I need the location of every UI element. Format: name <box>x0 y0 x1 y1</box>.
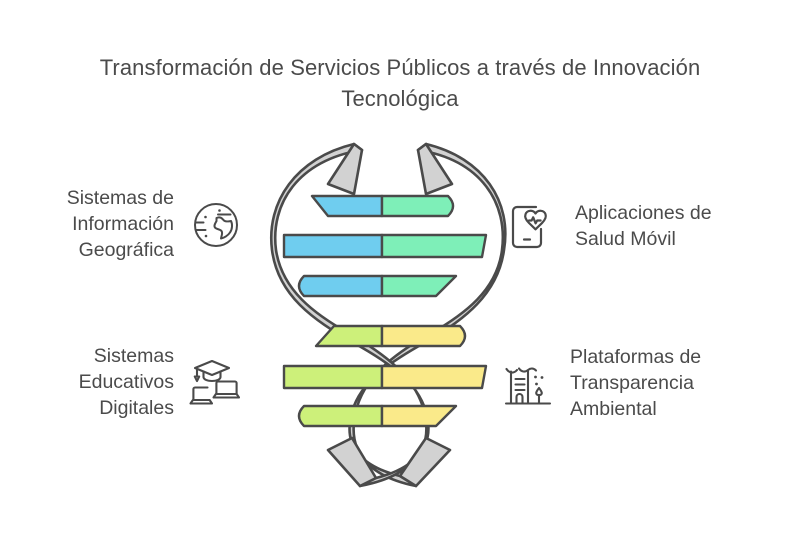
mobile-health-heart-icon <box>505 199 561 255</box>
graduation-cap-laptops-icon <box>188 355 244 411</box>
node-label-gis: Sistemas de Información Geográfica <box>67 186 174 264</box>
node-sistemas-educativos-digitales[interactable]: Sistemas Educativos Digitales <box>50 344 244 422</box>
helix-rung-lower-3 <box>299 406 456 426</box>
node-label-education: Sistemas Educativos Digitales <box>79 344 174 422</box>
dna-helix: .bb { fill:#d2d2d2; stroke:#4a4a4a; stro… <box>250 138 520 488</box>
node-label-environment: Plataformas de Transparencia Ambiental <box>570 345 701 423</box>
node-sistemas-informacion-geografica[interactable]: Sistemas de Información Geográfica <box>28 186 244 264</box>
helix-rung-lower-2 <box>284 366 486 388</box>
page-title: Transformación de Servicios Públicos a t… <box>60 52 740 114</box>
helix-rung-upper-1 <box>312 196 453 216</box>
node-plataformas-transparencia-ambiental[interactable]: Plataformas de Transparencia Ambiental <box>500 345 790 423</box>
diagram-canvas: Transformación de Servicios Públicos a t… <box>0 0 800 536</box>
globe-map-icon <box>188 197 244 253</box>
node-label-health: Aplicaciones de Salud Móvil <box>575 201 712 253</box>
helix-rung-lower-1 <box>316 326 465 346</box>
helix-rung-upper-2 <box>284 235 486 257</box>
building-tree-environment-icon <box>500 356 556 412</box>
node-aplicaciones-salud-movil[interactable]: Aplicaciones de Salud Móvil <box>505 199 775 255</box>
helix-rung-upper-3 <box>299 276 456 296</box>
